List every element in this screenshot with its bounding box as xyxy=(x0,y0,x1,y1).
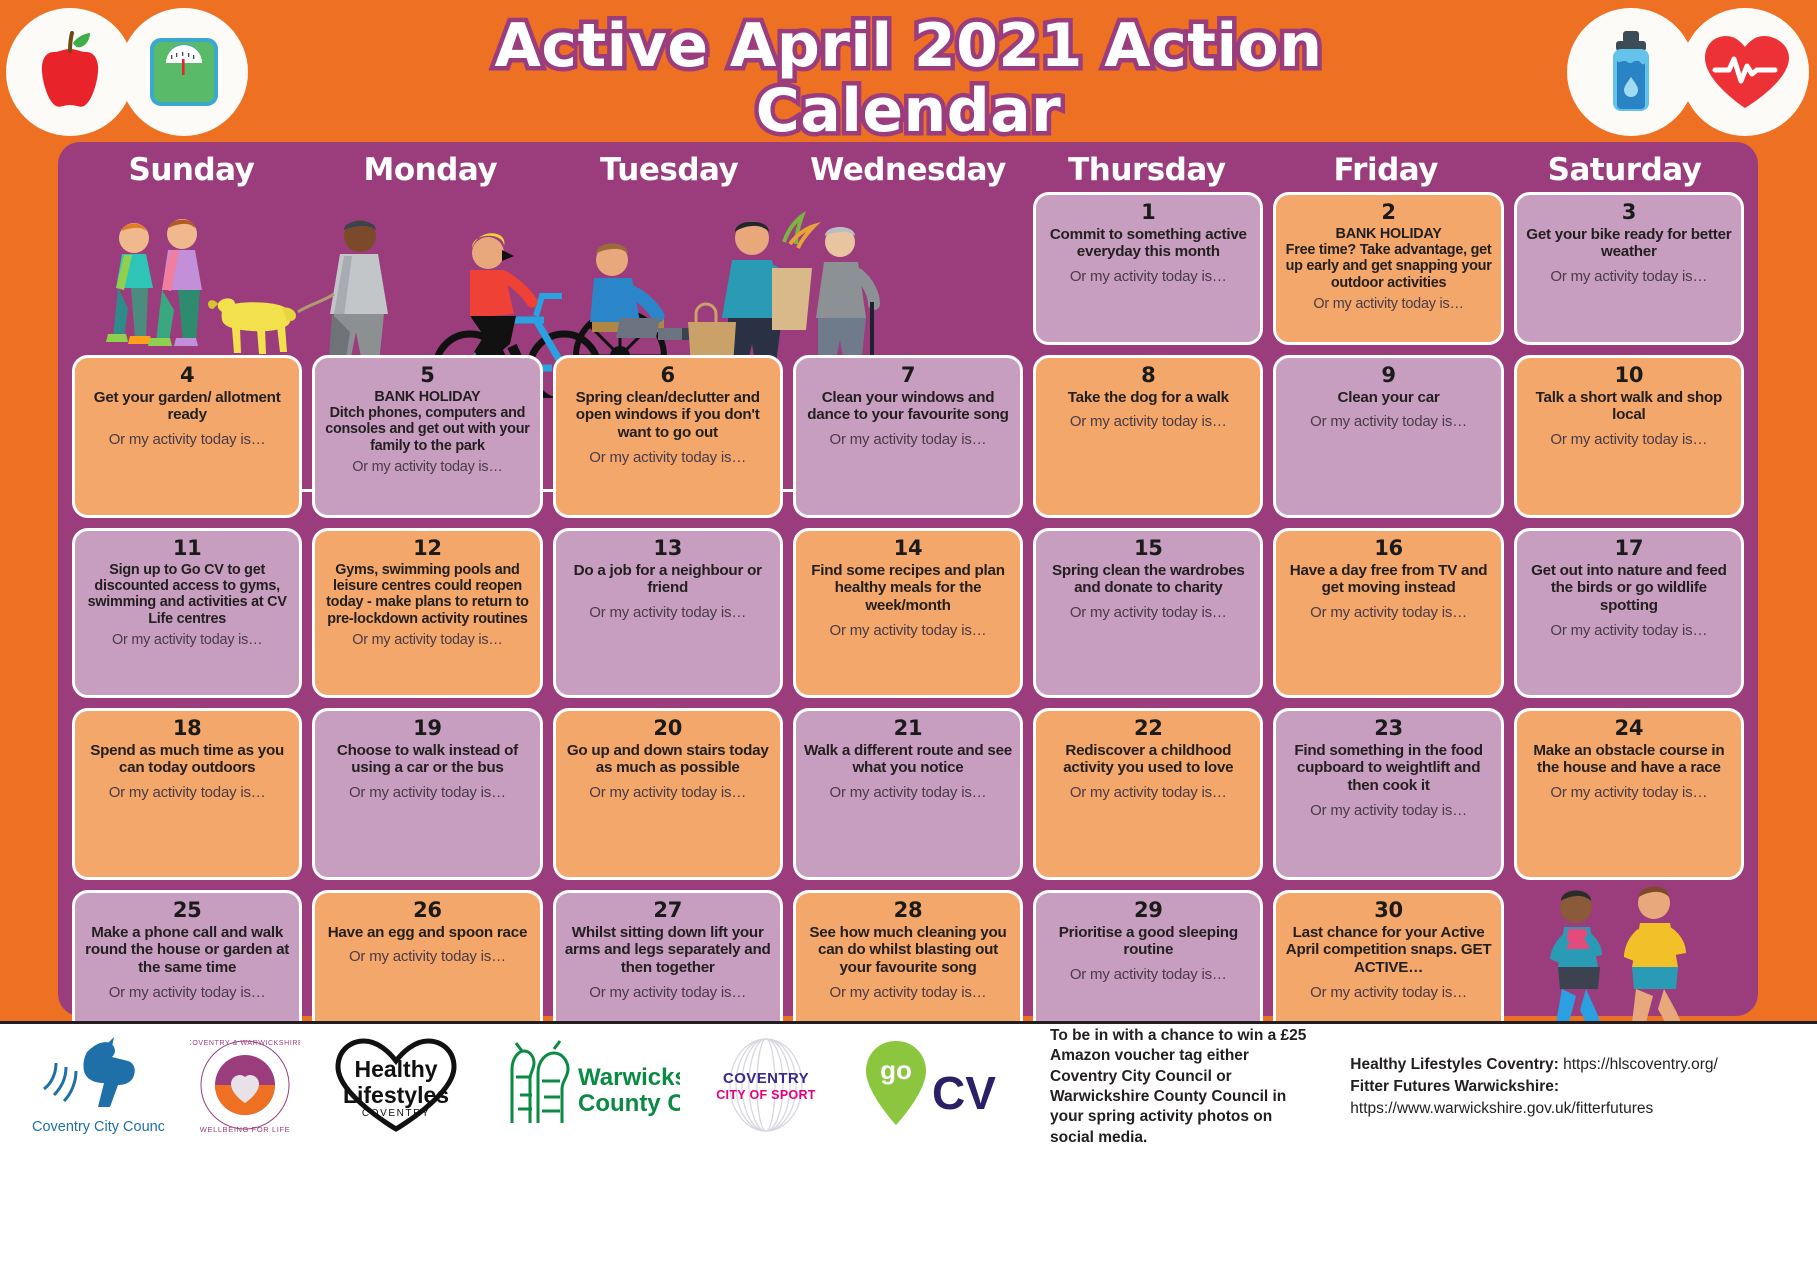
calendar-day-6[interactable]: 6 Spring clean/declutter and open window… xyxy=(553,355,783,518)
day-placeholder[interactable]: Or my activity today is… xyxy=(1284,604,1492,622)
day-activity: Make an obstacle course in the house and… xyxy=(1525,742,1733,778)
calendar-day-19[interactable]: 19 Choose to walk instead of using a car… xyxy=(312,708,542,880)
day-activity: Rediscover a childhood activity you used… xyxy=(1044,742,1252,778)
day-placeholder[interactable]: Or my activity today is… xyxy=(804,622,1012,640)
day-activity: Have a day free from TV and get moving i… xyxy=(1284,562,1492,598)
day-placeholder[interactable]: Or my activity today is… xyxy=(1044,784,1252,802)
day-activity: Clean your car xyxy=(1284,389,1492,407)
calendar-day-8[interactable]: 8 Take the dog for a walk Or my activity… xyxy=(1033,355,1263,518)
cv-label: CV xyxy=(932,1067,996,1119)
apple-icon xyxy=(6,8,134,136)
day-placeholder[interactable]: Or my activity today is… xyxy=(1284,984,1492,1002)
calendar-day-20[interactable]: 20 Go up and down stairs today as much a… xyxy=(553,708,783,880)
day-activity: Last chance for your Active April compet… xyxy=(1284,924,1492,978)
healthy-label: Healthy xyxy=(354,1056,437,1082)
day-number: 1 xyxy=(1044,201,1252,225)
day-number: 28 xyxy=(804,899,1012,923)
calendar-day-21[interactable]: 21 Walk a different route and see what y… xyxy=(793,708,1023,880)
day-placeholder[interactable]: Or my activity today is… xyxy=(1525,622,1733,640)
day-activity: Commit to something active everyday this… xyxy=(1044,226,1252,262)
day-placeholder[interactable]: Or my activity today is… xyxy=(1525,268,1733,286)
day-activity: BANK HOLIDAY Free time? Take advantage, … xyxy=(1284,226,1492,292)
fitter-futures-link-label: Fitter Futures Warwickshire: xyxy=(1350,1078,1559,1095)
day-activity: Spring clean/declutter and open windows … xyxy=(564,389,772,443)
coventry-city-of-sport-logo: COVENTRY CITY OF SPORT xyxy=(706,1033,826,1142)
day-activity: BANK HOLIDAY Ditch phones, computers and… xyxy=(323,389,531,455)
day-number: 4 xyxy=(83,364,291,388)
day-number: 3 xyxy=(1525,201,1733,225)
water-bottle-icon xyxy=(1567,8,1695,136)
header-icons-left xyxy=(6,8,248,136)
day-activity: See how much cleaning you can do whilst … xyxy=(804,924,1012,978)
day-number: 6 xyxy=(564,364,772,388)
calendar-day-16[interactable]: 16 Have a day free from TV and get movin… xyxy=(1273,528,1503,698)
wellbeing-ring-bottom-label: WELLBEING FOR LIFE xyxy=(200,1125,290,1134)
day-number: 22 xyxy=(1044,717,1252,741)
day-activity: Find some recipes and plan healthy meals… xyxy=(804,562,1012,616)
day-placeholder[interactable]: Or my activity today is… xyxy=(804,984,1012,1002)
calendar-day-13[interactable]: 13 Do a job for a neighbour or friend Or… xyxy=(553,528,783,698)
healthy-lifestyles-coventry-logo: Healthy Lifestyles COVENTRY xyxy=(326,1033,466,1142)
page-title: Active April 2021 Action Calendar xyxy=(339,14,1479,144)
day-placeholder[interactable]: Or my activity today is… xyxy=(323,948,531,966)
day-number: 21 xyxy=(804,717,1012,741)
calendar-grid: 1 Commit to something active everyday th… xyxy=(72,192,1744,1002)
calendar-day-22[interactable]: 22 Rediscover a childhood activity you u… xyxy=(1033,708,1263,880)
promo-text: To be in with a chance to win a £25 Amaz… xyxy=(1050,1026,1312,1149)
day-header-friday: Friday xyxy=(1266,148,1505,188)
day-number: 2 xyxy=(1284,201,1492,225)
day-activity: Have an egg and spoon race xyxy=(323,924,531,942)
go-label: go xyxy=(880,1055,912,1085)
day-number: 25 xyxy=(83,899,291,923)
calendar-day-14[interactable]: 14 Find some recipes and plan healthy me… xyxy=(793,528,1023,698)
day-header-sunday: Sunday xyxy=(72,148,311,188)
day-placeholder[interactable]: Or my activity today is… xyxy=(323,459,531,476)
day-number: 23 xyxy=(1284,717,1492,741)
day-activity: Get your bike ready for better weather xyxy=(1525,226,1733,262)
day-placeholder[interactable]: Or my activity today is… xyxy=(83,984,291,1002)
day-header-monday: Monday xyxy=(311,148,550,188)
day-number: 12 xyxy=(323,537,531,561)
day-placeholder[interactable]: Or my activity today is… xyxy=(804,784,1012,802)
day-placeholder[interactable]: Or my activity today is… xyxy=(1044,413,1252,431)
day-header-thursday: Thursday xyxy=(1027,148,1266,188)
day-number: 27 xyxy=(564,899,772,923)
day-number: 26 xyxy=(323,899,531,923)
header-icons-right xyxy=(1567,8,1809,136)
day-placeholder[interactable]: Or my activity today is… xyxy=(564,984,772,1002)
fitter-futures-link-row[interactable]: Fitter Futures Warwickshire: https://www… xyxy=(1350,1076,1817,1120)
healthy-lifestyles-link-label: Healthy Lifestyles Coventry: xyxy=(1350,1056,1558,1073)
day-number: 10 xyxy=(1525,364,1733,388)
day-number: 19 xyxy=(323,717,531,741)
calendar-day-12[interactable]: 12 Gyms, swimming pools and leisure cent… xyxy=(312,528,542,698)
weighing-scale-icon xyxy=(120,8,248,136)
day-activity: Do a job for a neighbour or friend xyxy=(564,562,772,598)
calendar-day-17[interactable]: 17 Get out into nature and feed the bird… xyxy=(1514,528,1744,698)
empty-cell xyxy=(72,192,302,345)
warwickshire-label: Warwickshire xyxy=(578,1064,680,1091)
day-activity: Walk a different route and see what you … xyxy=(804,742,1012,778)
day-number: 18 xyxy=(83,717,291,741)
day-header-wednesday: Wednesday xyxy=(789,148,1028,188)
day-placeholder[interactable]: Or my activity today is… xyxy=(1284,802,1492,820)
day-number: 30 xyxy=(1284,899,1492,923)
day-activity: Find something in the food cupboard to w… xyxy=(1284,742,1492,796)
day-placeholder[interactable]: Or my activity today is… xyxy=(83,784,291,802)
calendar-day-23[interactable]: 23 Find something in the food cupboard t… xyxy=(1273,708,1503,880)
calendar-day-15[interactable]: 15 Spring clean the wardrobes and donate… xyxy=(1033,528,1263,698)
coventry-city-council-logo: Coventry City Council xyxy=(28,1033,164,1142)
coventry-sport-label: COVENTRY xyxy=(723,1070,809,1087)
footer-links: Healthy Lifestyles Coventry: https://hls… xyxy=(1350,1054,1817,1120)
day-activity: Sign up to Go CV to get discounted acces… xyxy=(83,562,291,628)
day-header-saturday: Saturday xyxy=(1505,148,1744,188)
day-number: 11 xyxy=(83,537,291,561)
day-activity: Clean your windows and dance to your fav… xyxy=(804,389,1012,425)
day-activity: Gyms, swimming pools and leisure centres… xyxy=(323,562,531,628)
heart-pulse-icon xyxy=(1681,8,1809,136)
healthy-lifestyles-link-row[interactable]: Healthy Lifestyles Coventry: https://hls… xyxy=(1350,1054,1817,1076)
day-number: 5 xyxy=(323,364,531,388)
empty-cell xyxy=(312,192,542,345)
day-placeholder[interactable]: Or my activity today is… xyxy=(1525,431,1733,449)
day-placeholder[interactable]: Or my activity today is… xyxy=(564,784,772,802)
day-name-header-row: Sunday Monday Tuesday Wednesday Thursday… xyxy=(58,142,1758,188)
day-placeholder[interactable]: Or my activity today is… xyxy=(1044,966,1252,984)
calendar-day-9[interactable]: 9 Clean your car Or my activity today is… xyxy=(1273,355,1503,518)
fitter-futures-link-url[interactable]: https://www.warwickshire.gov.uk/fitterfu… xyxy=(1350,1100,1653,1117)
day-activity: Take the dog for a walk xyxy=(1044,389,1252,407)
day-number: 13 xyxy=(564,537,772,561)
day-placeholder[interactable]: Or my activity today is… xyxy=(323,632,531,649)
day-number: 29 xyxy=(1044,899,1252,923)
day-placeholder[interactable]: Or my activity today is… xyxy=(804,431,1012,449)
calendar-day-4[interactable]: 4 Get your garden/ allotment ready Or my… xyxy=(72,355,302,518)
day-activity: Prioritise a good sleeping routine xyxy=(1044,924,1252,960)
lifestyles-label: Lifestyles xyxy=(343,1082,449,1108)
empty-cell xyxy=(793,192,1023,345)
day-placeholder[interactable]: Or my activity today is… xyxy=(564,449,772,467)
day-placeholder[interactable]: Or my activity today is… xyxy=(1284,413,1492,431)
calendar-day-2[interactable]: 2 BANK HOLIDAY Free time? Take advantage… xyxy=(1273,192,1503,345)
calendar-day-10[interactable]: 10 Talk a short walk and shop local Or m… xyxy=(1514,355,1744,518)
calendar-day-11[interactable]: 11 Sign up to Go CV to get discounted ac… xyxy=(72,528,302,698)
day-activity: Talk a short walk and shop local xyxy=(1525,389,1733,425)
calendar-day-7[interactable]: 7 Clean your windows and dance to your f… xyxy=(793,355,1023,518)
calendar-day-5[interactable]: 5 BANK HOLIDAY Ditch phones, computers a… xyxy=(312,355,542,518)
day-placeholder[interactable]: Or my activity today is… xyxy=(323,784,531,802)
calendar-day-1[interactable]: 1 Commit to something active everyday th… xyxy=(1033,192,1263,345)
day-activity: Get your garden/ allotment ready xyxy=(83,389,291,425)
coventry-city-council-label: Coventry City Council xyxy=(32,1119,164,1135)
calendar-panel: Sunday Monday Tuesday Wednesday Thursday… xyxy=(58,142,1758,1016)
wellbeing-for-life-logo: COVENTRY & WARWICKSHIRE WELLBEING FOR LI… xyxy=(190,1033,300,1142)
day-placeholder[interactable]: Or my activity today is… xyxy=(1525,784,1733,802)
active-april-calendar-poster: Active April 2021 Action Calendar Active… xyxy=(0,0,1817,1287)
city-of-sport-label: CITY OF SPORT xyxy=(716,1088,816,1102)
wellbeing-ring-top-label: COVENTRY & WARWICKSHIRE xyxy=(190,1040,300,1047)
day-activity: Choose to walk instead of using a car or… xyxy=(323,742,531,778)
day-placeholder[interactable]: Or my activity today is… xyxy=(1044,268,1252,286)
empty-cell xyxy=(553,192,783,345)
day-number: 16 xyxy=(1284,537,1492,561)
day-number: 9 xyxy=(1284,364,1492,388)
day-number: 24 xyxy=(1525,717,1733,741)
county-council-label: County Council xyxy=(578,1090,680,1117)
calendar-day-18[interactable]: 18 Spend as much time as you can today o… xyxy=(72,708,302,880)
day-activity: Whilst sitting down lift your arms and l… xyxy=(564,924,772,978)
coventry-label: COVENTRY xyxy=(362,1108,430,1119)
day-placeholder[interactable]: Or my activity today is… xyxy=(83,632,291,649)
day-placeholder[interactable]: Or my activity today is… xyxy=(83,431,291,449)
day-header-tuesday: Tuesday xyxy=(550,148,789,188)
healthy-lifestyles-link-url[interactable]: https://hlscoventry.org/ xyxy=(1563,1056,1718,1073)
calendar-day-24[interactable]: 24 Make an obstacle course in the house … xyxy=(1514,708,1744,880)
day-activity: Make a phone call and walk round the hou… xyxy=(83,924,291,978)
day-activity: Get out into nature and feed the birds o… xyxy=(1525,562,1733,616)
day-number: 14 xyxy=(804,537,1012,561)
day-placeholder[interactable]: Or my activity today is… xyxy=(564,604,772,622)
day-number: 20 xyxy=(564,717,772,741)
day-activity: Spend as much time as you can today outd… xyxy=(83,742,291,778)
poster-footer: Coventry City Council COVENTRY & WARWICK… xyxy=(0,1021,1817,1287)
day-number: 15 xyxy=(1044,537,1252,561)
day-placeholder[interactable]: Or my activity today is… xyxy=(1284,296,1492,313)
day-placeholder[interactable]: Or my activity today is… xyxy=(1044,604,1252,622)
day-number: 17 xyxy=(1525,537,1733,561)
day-number: 7 xyxy=(804,364,1012,388)
calendar-day-3[interactable]: 3 Get your bike ready for better weather… xyxy=(1514,192,1744,345)
warwickshire-county-council-logo: Warwickshire County Council xyxy=(492,1033,680,1142)
day-activity: Go up and down stairs today as much as p… xyxy=(564,742,772,778)
day-number: 8 xyxy=(1044,364,1252,388)
footer-content: Coventry City Council COVENTRY & WARWICK… xyxy=(0,1027,1817,1147)
day-activity: Spring clean the wardrobes and donate to… xyxy=(1044,562,1252,598)
go-cv-logo: go CV xyxy=(852,1033,1012,1142)
